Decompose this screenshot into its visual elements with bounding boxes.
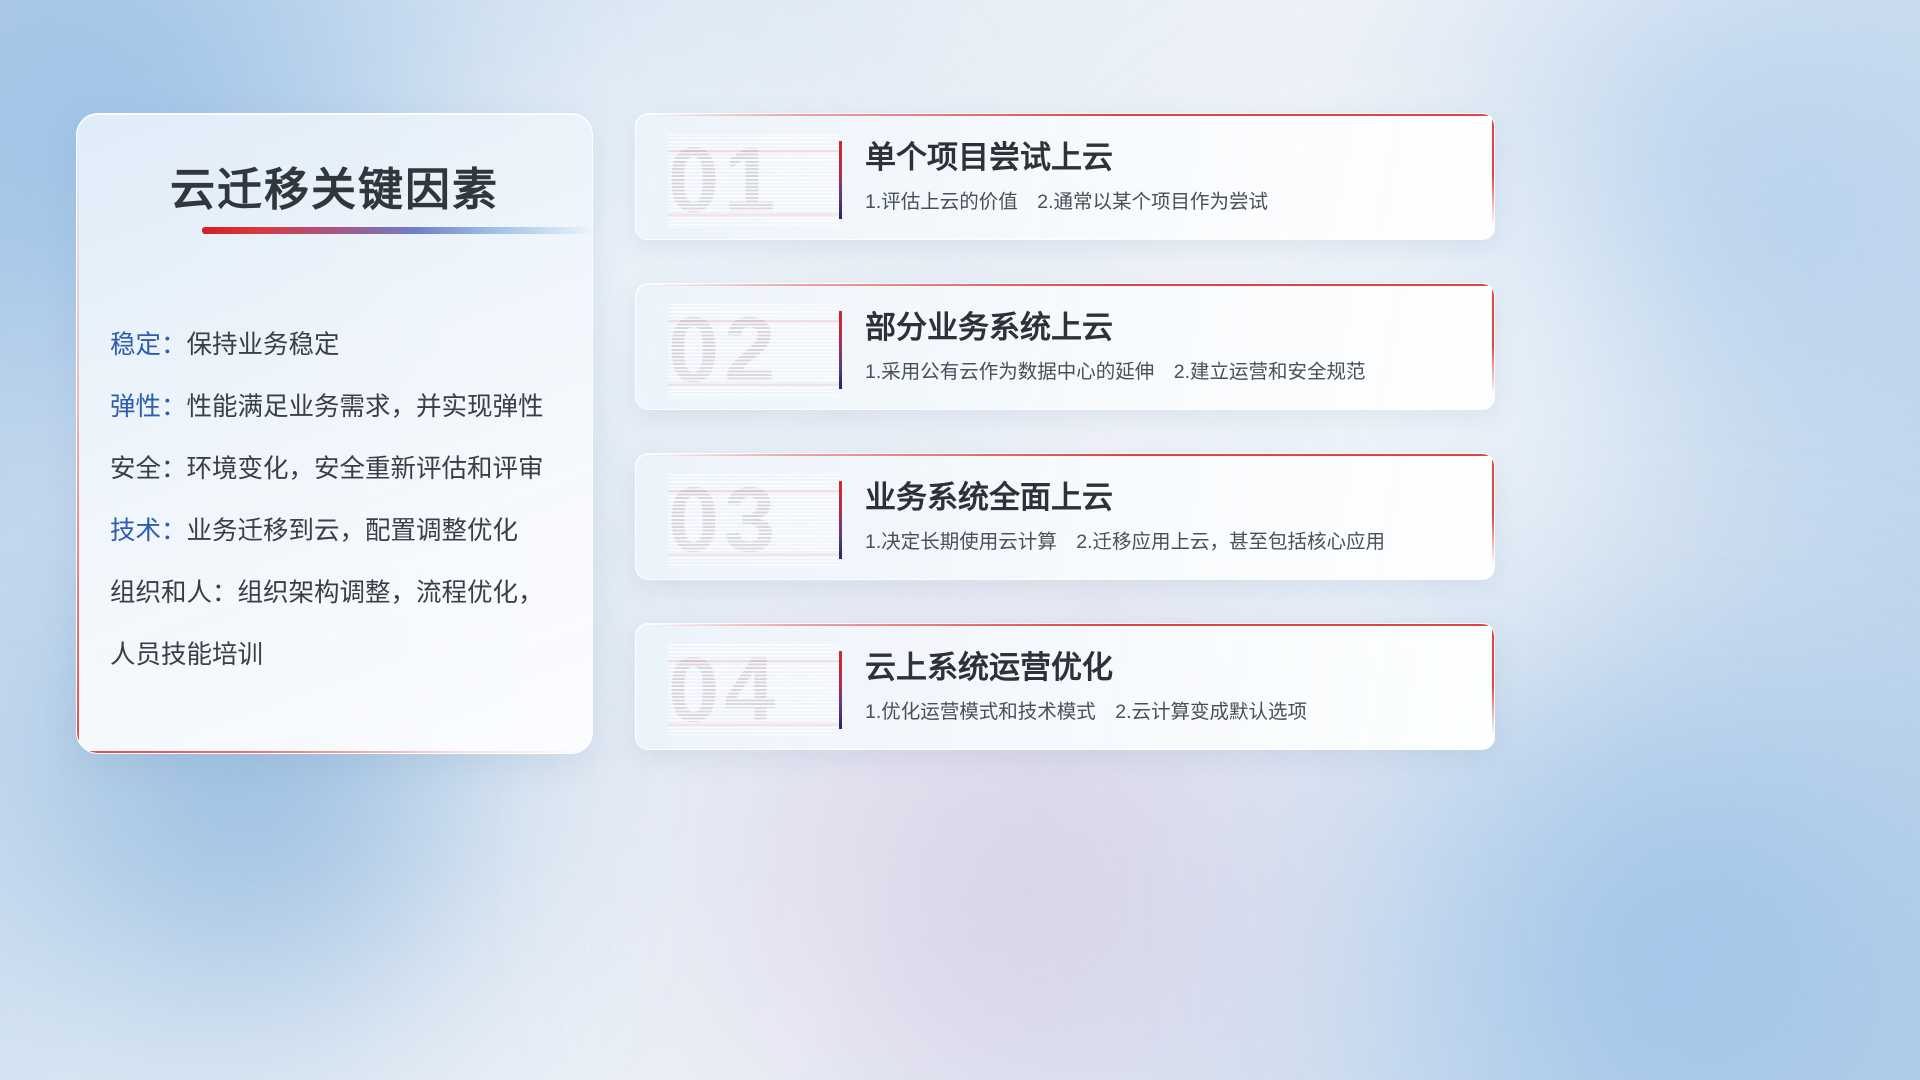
list-item: 人员技能培训 xyxy=(110,624,574,686)
factor-text: 业务迁移到云，配置调整优化 xyxy=(187,517,519,545)
step-card-03[interactable]: 03 业务系统全面上云 1.决定长期使用云计算 2.迁移应用上云，甚至包括核心应… xyxy=(635,453,1495,580)
step-subtitle: 1.优化运营模式和技术模式 2.云计算变成默认选项 xyxy=(865,695,1470,729)
step-title: 业务系统全面上云 xyxy=(865,476,1470,520)
step-body: 业务系统全面上云 1.决定长期使用云计算 2.迁移应用上云，甚至包括核心应用 xyxy=(865,476,1470,559)
step-divider-bar xyxy=(839,481,842,559)
factor-text: 性能满足业务需求，并实现弹性 xyxy=(187,393,544,421)
migration-steps-list: 01 单个项目尝试上云 1.评估上云的价值 2.通常以某个项目作为尝试 02 部… xyxy=(635,113,1495,793)
step-number: 04 xyxy=(668,642,840,738)
list-item: 稳定：保持业务稳定 xyxy=(110,314,574,376)
factor-label: 弹性： xyxy=(110,393,187,421)
step-subtitle: 1.评估上云的价值 2.通常以某个项目作为尝试 xyxy=(865,185,1470,219)
step-divider-bar xyxy=(839,141,842,219)
step-number: 01 xyxy=(668,132,840,228)
factor-text: 组织架构调整，流程优化， xyxy=(238,579,544,607)
step-number: 02 xyxy=(668,302,840,398)
step-subtitle: 1.决定长期使用云计算 2.迁移应用上云，甚至包括核心应用 xyxy=(865,525,1470,559)
step-divider-bar xyxy=(839,311,842,389)
list-item: 组织和人：组织架构调整，流程优化， xyxy=(110,562,574,624)
step-title: 云上系统运营优化 xyxy=(865,646,1470,690)
step-body: 云上系统运营优化 1.优化运营模式和技术模式 2.云计算变成默认选项 xyxy=(865,646,1470,729)
step-card-01[interactable]: 01 单个项目尝试上云 1.评估上云的价值 2.通常以某个项目作为尝试 xyxy=(635,113,1495,240)
list-item: 安全：环境变化，安全重新评估和评审 xyxy=(110,438,574,500)
step-divider-bar xyxy=(839,651,842,729)
factor-label: 稳定： xyxy=(110,331,187,359)
step-title: 部分业务系统上云 xyxy=(865,306,1470,350)
step-number: 03 xyxy=(668,472,840,568)
factor-label: 组织和人： xyxy=(110,579,238,607)
step-card-02[interactable]: 02 部分业务系统上云 1.采用公有云作为数据中心的延伸 2.建立运营和安全规范 xyxy=(635,283,1495,410)
step-title: 单个项目尝试上云 xyxy=(865,136,1470,180)
step-card-04[interactable]: 04 云上系统运营优化 1.优化运营模式和技术模式 2.云计算变成默认选项 xyxy=(635,623,1495,750)
title-underline-accent xyxy=(202,227,593,234)
step-subtitle: 1.采用公有云作为数据中心的延伸 2.建立运营和安全规范 xyxy=(865,355,1470,389)
factor-label: 技术： xyxy=(110,517,187,545)
list-item: 技术：业务迁移到云，配置调整优化 xyxy=(110,500,574,562)
factor-text: 人员技能培训 xyxy=(110,641,263,669)
factor-text: 保持业务稳定 xyxy=(187,331,340,359)
factor-list: 稳定：保持业务稳定 弹性：性能满足业务需求，并实现弹性 安全：环境变化，安全重新… xyxy=(110,314,574,686)
step-body: 部分业务系统上云 1.采用公有云作为数据中心的延伸 2.建立运营和安全规范 xyxy=(865,306,1470,389)
factor-text: 环境变化，安全重新评估和评审 xyxy=(187,455,544,483)
list-item: 弹性：性能满足业务需求，并实现弹性 xyxy=(110,376,574,438)
key-factors-panel: 云迁移关键因素 稳定：保持业务稳定 弹性：性能满足业务需求，并实现弹性 安全：环… xyxy=(76,113,593,754)
page-title: 云迁移关键因素 xyxy=(77,153,592,218)
factor-label: 安全： xyxy=(110,455,187,483)
step-body: 单个项目尝试上云 1.评估上云的价值 2.通常以某个项目作为尝试 xyxy=(865,136,1470,219)
